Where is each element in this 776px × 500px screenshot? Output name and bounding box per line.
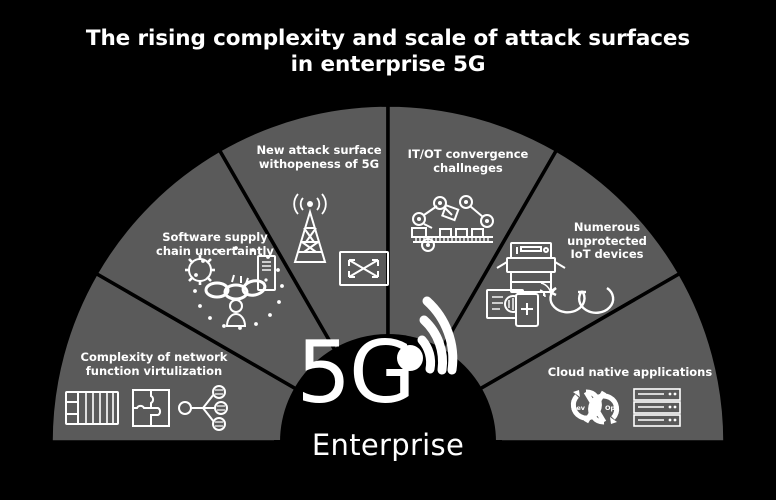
five-g-logo: 5G <box>296 323 413 423</box>
segment-label-numerous-unprotected-iot-devices: Numerous unprotected IoT devices <box>548 221 666 262</box>
segment-label-it-ot-convergence-challenges: IT/OT convergence challneges <box>396 148 540 175</box>
segment-label-complexity-of-network-function-virtualization: Complexity of network function virtuliza… <box>64 351 244 378</box>
infographic-canvas: The rising complexity and scale of attac… <box>0 0 776 500</box>
segment-label-software-supply-chain-uncertainty: Software supply chain uncertaintly <box>140 231 290 258</box>
segment-label-cloud-native-applications: Cloud native applications <box>540 366 720 380</box>
segment-label-new-attack-surface-with-openness-of-5g: New attack surface withopeness of 5G <box>245 144 393 171</box>
center-caption: Enterprise <box>258 428 518 462</box>
devops-ops-label: Ops <box>605 404 619 412</box>
devops-dev-label: Dev <box>571 404 586 412</box>
